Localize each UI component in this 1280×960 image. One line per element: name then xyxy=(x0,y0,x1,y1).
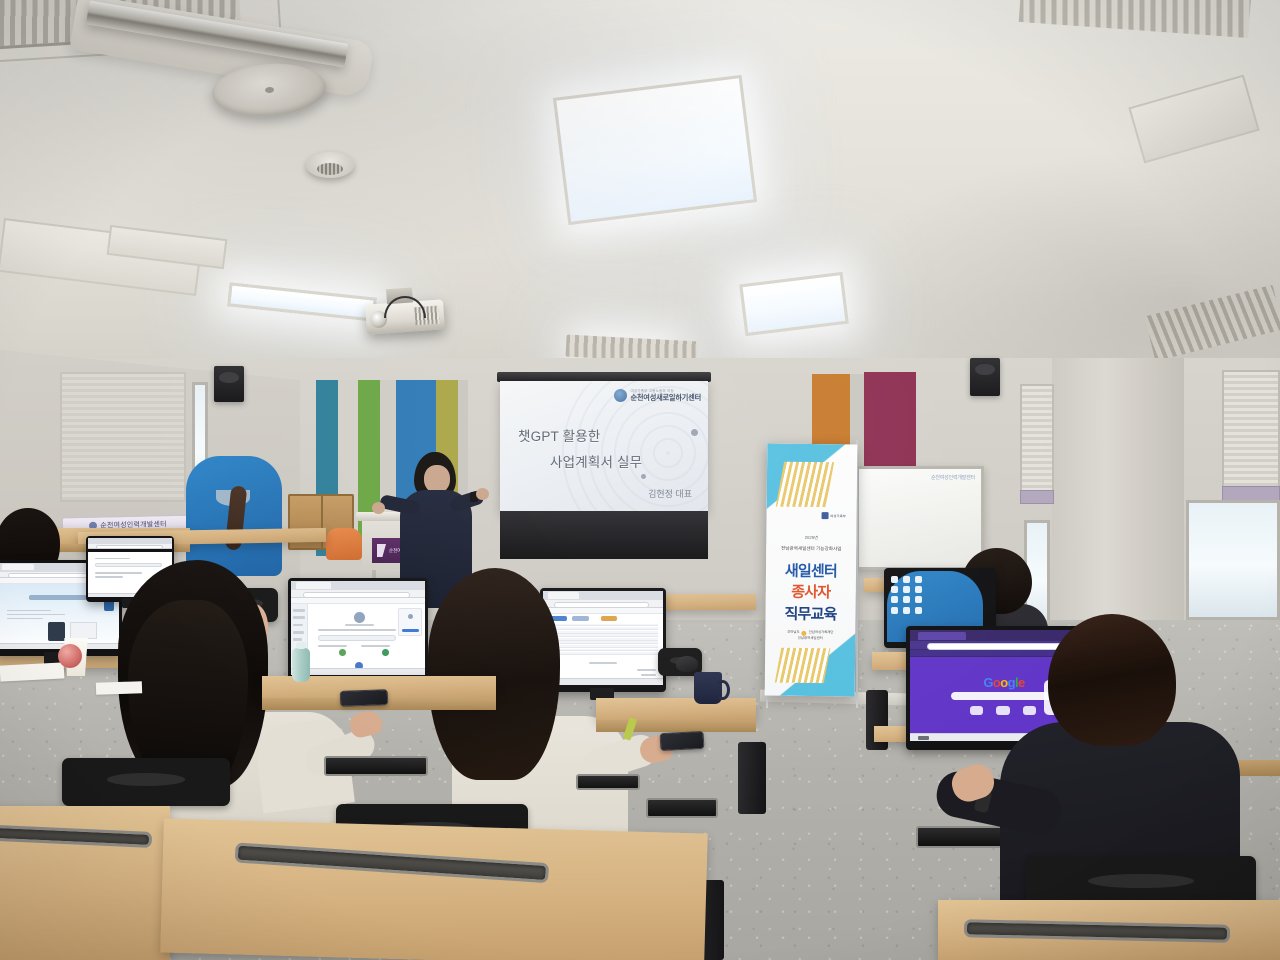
banner-footer: 전라남도 전남여성가족재단 전남광역새일센터 xyxy=(765,630,855,642)
gov-emblem-icon xyxy=(821,512,828,519)
desk-edge xyxy=(596,720,756,732)
apple-icon xyxy=(58,644,82,668)
projection-title-line1: 챗GPT 활용한 xyxy=(518,425,601,445)
pc-tower xyxy=(738,742,766,814)
page-screenshot-thumb xyxy=(48,622,65,642)
desktop-icon[interactable] xyxy=(903,586,910,593)
water-bottle-icon xyxy=(292,648,310,682)
desktop-icon[interactable] xyxy=(891,586,898,593)
shortcut-youtube-icon[interactable] xyxy=(996,706,1009,715)
taskbar-start-icon[interactable] xyxy=(918,736,929,740)
whiteboard-logo: 순천여성인력개발센터 xyxy=(931,474,975,481)
smartphone-icon xyxy=(340,689,389,707)
projection-screen: 여성가족부·고용노동부 지정 순천여성새로일하기센터 챗GPT 활용한 사업계획… xyxy=(500,381,708,513)
whiteboard: 순천여성인력개발센터 xyxy=(856,466,984,570)
banner-title-3: 직무교육 xyxy=(765,602,855,624)
browser-omnibox[interactable] xyxy=(291,590,425,598)
cable-slot xyxy=(0,824,152,848)
desk-foreground-center xyxy=(160,818,708,960)
attendee-hair xyxy=(1048,614,1176,746)
windows-taskbar[interactable] xyxy=(543,678,663,685)
projection-screen-lower xyxy=(500,511,708,559)
projection-logo: 여성가족부·고용노동부 지정 순천여성새로일하기센터 xyxy=(614,389,701,402)
shortcut-gmail-icon[interactable] xyxy=(970,706,983,715)
coffee-mug-icon xyxy=(694,672,722,704)
banner-gov-logo: 여성가족부 xyxy=(821,512,846,519)
page-side-card xyxy=(398,608,422,637)
table-row[interactable] xyxy=(548,634,658,637)
google-logo: Google xyxy=(983,675,1024,690)
page-heading xyxy=(29,595,88,600)
chair[interactable] xyxy=(62,758,230,806)
desk-foreground-right xyxy=(938,900,1280,960)
cable-slot xyxy=(235,842,550,883)
banner-stripe-graphic-bottom xyxy=(774,648,829,684)
ceiling-shading xyxy=(0,0,1280,390)
screen-content-list xyxy=(543,591,663,685)
banner-stripe-graphic-top xyxy=(775,461,834,507)
desktop-icon[interactable] xyxy=(891,596,898,603)
window-far-right xyxy=(1186,500,1280,620)
banner-subtitle: 전남광역새일센터 기능강화사업 xyxy=(766,546,856,553)
page-table-thumb xyxy=(70,622,97,639)
foundation-emblem-icon xyxy=(802,631,807,636)
login-button[interactable] xyxy=(402,629,419,633)
desktop-icon[interactable] xyxy=(903,607,910,614)
banner-gov-text: 여성가족부 xyxy=(830,513,846,518)
table-row[interactable] xyxy=(548,641,658,644)
wall-speaker-left-icon xyxy=(214,366,244,402)
avatar xyxy=(354,612,365,623)
orange-chair xyxy=(326,528,362,560)
desktop-icon[interactable] xyxy=(915,586,922,593)
keyboard-tray[interactable] xyxy=(646,798,718,818)
event-banner: 여성가족부 2025년 전남광역새일센터 기능강화사업 새일센터 종사자 직무교… xyxy=(765,444,858,697)
projection-title-line2: 사업계획서 실무 xyxy=(550,451,642,471)
presenter-right-hand xyxy=(476,488,489,500)
desk-foreground-left xyxy=(0,806,170,960)
table-row[interactable] xyxy=(548,652,658,655)
screen-content-profile xyxy=(291,581,425,675)
desktop-icon[interactable] xyxy=(915,596,922,603)
google-search-input[interactable] xyxy=(951,692,1056,700)
desktop-icon[interactable] xyxy=(903,576,910,583)
attendee-hair xyxy=(428,568,560,780)
paper-sheet xyxy=(0,662,64,681)
toolbar-button[interactable] xyxy=(572,616,589,620)
classroom-photo: 순천여성인력개발센터 여성가족부·고용노동부 지정 순천여성새로일하기센터 챗G… xyxy=(0,0,1280,960)
window-blind-far-right xyxy=(1222,370,1280,500)
desktop-icon[interactable] xyxy=(891,576,898,583)
browser-tabbar xyxy=(291,581,425,590)
browser-tab[interactable] xyxy=(918,632,967,640)
page-body xyxy=(543,614,663,685)
desk-mid-center xyxy=(596,698,756,720)
browser-omnibox[interactable] xyxy=(88,544,172,549)
windows-taskbar[interactable] xyxy=(291,668,425,675)
paper-sheet xyxy=(96,681,142,695)
avatar xyxy=(408,614,413,619)
browser-omnibox[interactable] xyxy=(543,600,663,608)
presenter-left-hand xyxy=(372,502,385,514)
banner-title-1: 새일센터 xyxy=(766,559,856,581)
projection-dot xyxy=(691,429,698,436)
desktop-icon[interactable] xyxy=(915,576,922,583)
search-input[interactable] xyxy=(318,635,396,641)
wall-speaker-right-icon xyxy=(970,358,1000,396)
ceiling xyxy=(0,0,1280,390)
table-row[interactable] xyxy=(548,638,658,641)
monitor-display xyxy=(543,591,663,685)
table-row[interactable] xyxy=(548,649,658,652)
banner-year: 2025년 xyxy=(766,534,856,541)
browser-tab xyxy=(296,582,331,589)
toolbar-button[interactable] xyxy=(601,616,618,620)
shortcut-webstore-icon[interactable] xyxy=(1023,706,1036,715)
badge-icon xyxy=(382,649,389,656)
form-input[interactable] xyxy=(95,563,162,567)
computer-mouse-icon xyxy=(676,656,698,672)
cable-slot xyxy=(964,919,1230,943)
table-row[interactable] xyxy=(548,624,658,627)
browser-tab xyxy=(548,592,579,599)
keyboard-tray[interactable] xyxy=(576,774,640,790)
page-body xyxy=(291,604,425,675)
desktop-icon[interactable] xyxy=(891,607,898,614)
table-row[interactable] xyxy=(548,631,658,634)
banner-footer-3: 전남광역새일센터 xyxy=(765,635,855,641)
presenter-face xyxy=(424,465,450,493)
projection-dot xyxy=(641,474,646,479)
table-row[interactable] xyxy=(548,627,658,630)
banner-title-2: 종사자 xyxy=(766,581,856,603)
table-row[interactable] xyxy=(548,645,658,648)
browser-tabbar xyxy=(543,591,663,600)
browser-tab xyxy=(2,564,34,570)
podium-logo-icon xyxy=(377,544,386,557)
projection-logo-main: 순천여성새로일하기센터 xyxy=(630,394,701,401)
desktop-icon-grid[interactable] xyxy=(891,576,922,604)
window-blind-right xyxy=(1020,384,1054,496)
smartphone-icon xyxy=(660,731,705,751)
desktop-icon[interactable] xyxy=(903,596,910,603)
window-blind-left xyxy=(60,372,186,502)
monitor-display xyxy=(291,581,425,675)
keyboard-tray[interactable] xyxy=(324,756,428,776)
projection-byline: 김현정 대표 xyxy=(648,487,692,500)
wall-pillar xyxy=(1052,358,1184,658)
blind-headrail-right xyxy=(1020,490,1054,504)
center-emblem-icon xyxy=(614,389,627,402)
desktop-icon[interactable] xyxy=(915,607,922,614)
badge-icon xyxy=(339,649,346,656)
